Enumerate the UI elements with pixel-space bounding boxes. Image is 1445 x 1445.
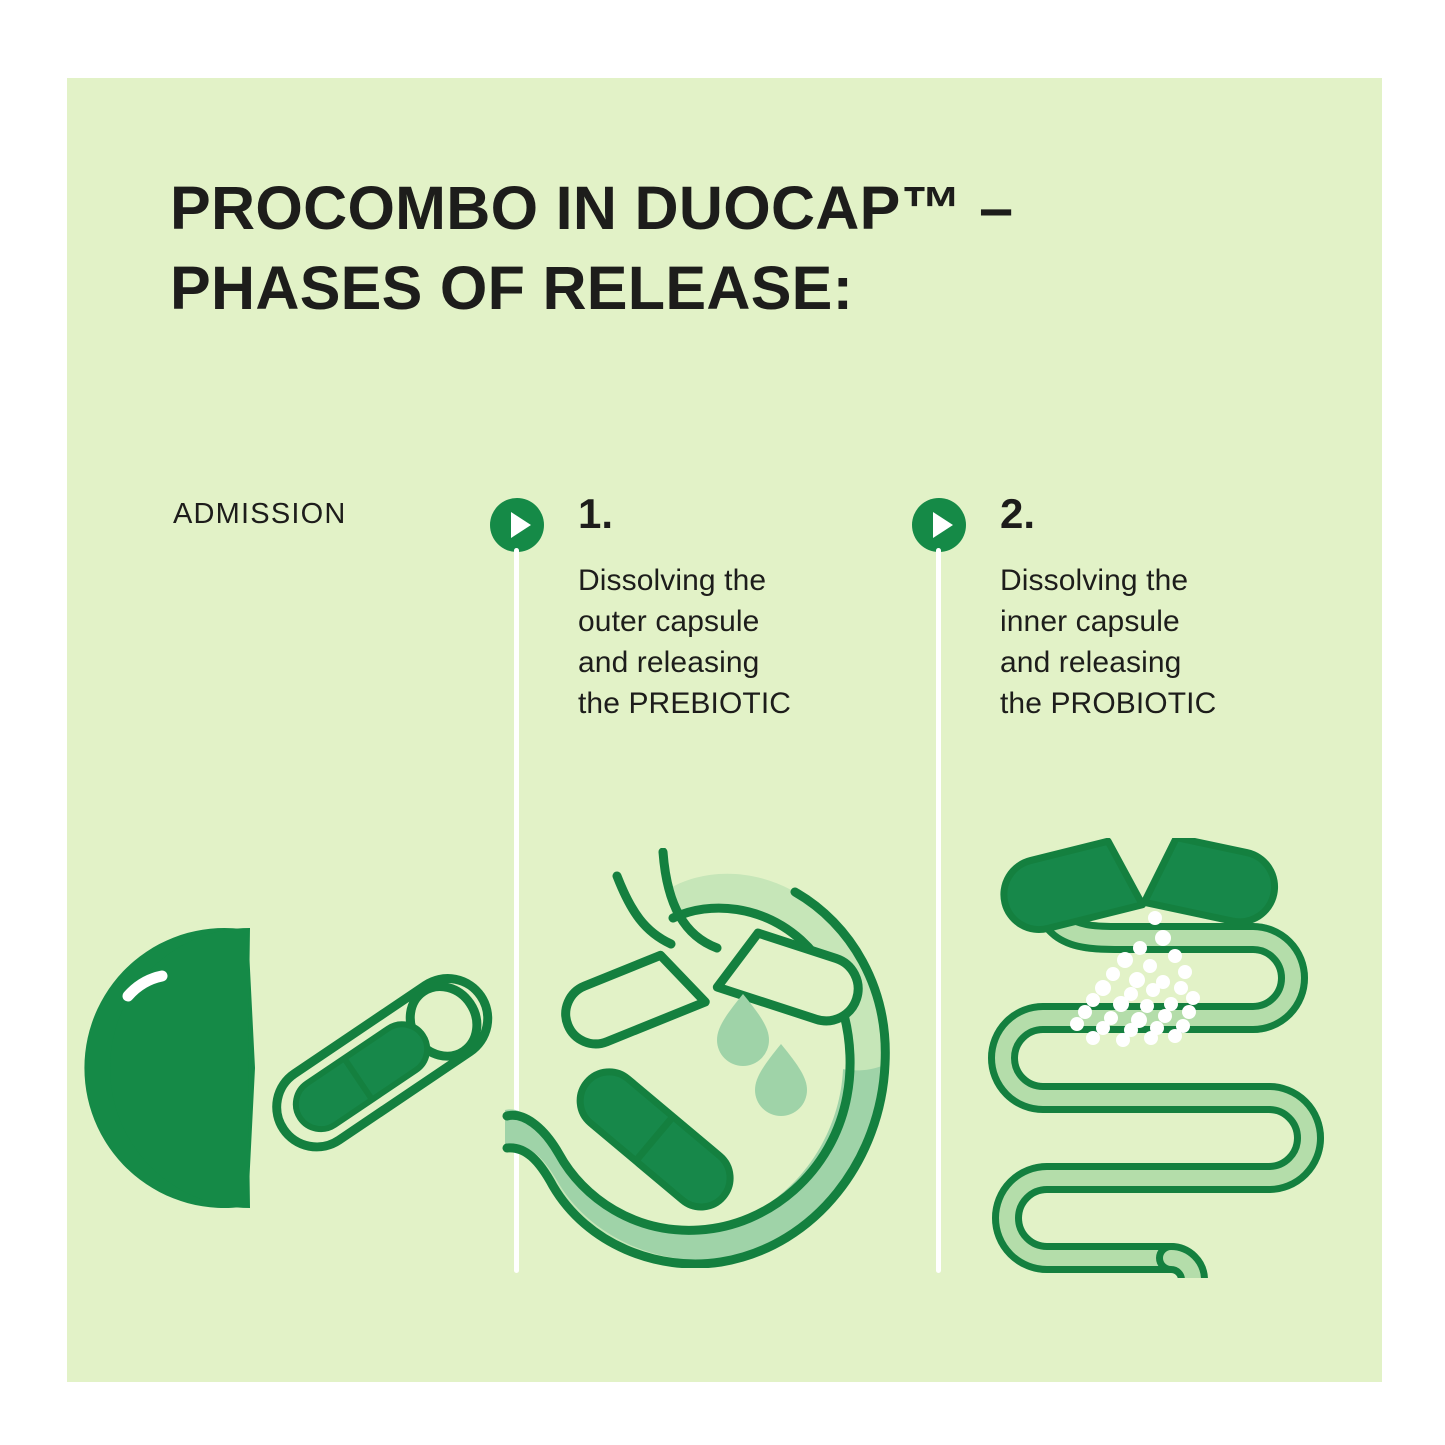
stomach-illustration	[495, 848, 895, 1268]
duocap-capsule	[261, 963, 503, 1162]
page-title: PROCOMBO IN DUOCAP™ – PHASES OF RELEASE:	[170, 168, 1270, 328]
phase-2-number: 2.	[1000, 490, 1290, 538]
phase-1-description: Dissolving the outer capsule and releasi…	[578, 560, 868, 724]
phase-1-body: 1. Dissolving the outer capsule and rele…	[578, 490, 868, 724]
play-arrow-icon	[933, 512, 953, 538]
timeline-line	[936, 548, 941, 1273]
inner-capsule-half-right	[1144, 838, 1281, 928]
intestine-illustration	[985, 838, 1340, 1278]
mouth-capsule-illustration	[50, 858, 510, 1278]
phase-2-body: 2. Dissolving the inner capsule and rele…	[1000, 490, 1290, 724]
play-arrow-icon	[511, 512, 531, 538]
esophagus-left	[617, 876, 671, 944]
rectum-segment	[1171, 1258, 1193, 1278]
admission-label: ADMISSION	[173, 498, 463, 531]
capsule-half-left	[557, 946, 706, 1053]
phase-1-number: 1.	[578, 490, 868, 538]
phase-2-description: Dissolving the inner capsule and releasi…	[1000, 560, 1290, 724]
infographic-canvas: PROCOMBO IN DUOCAP™ – PHASES OF RELEASE:…	[0, 0, 1445, 1445]
inner-capsule-half-left	[996, 838, 1142, 937]
phase-marker-2	[912, 498, 966, 1278]
phase-column-admission: ADMISSION	[173, 498, 463, 531]
